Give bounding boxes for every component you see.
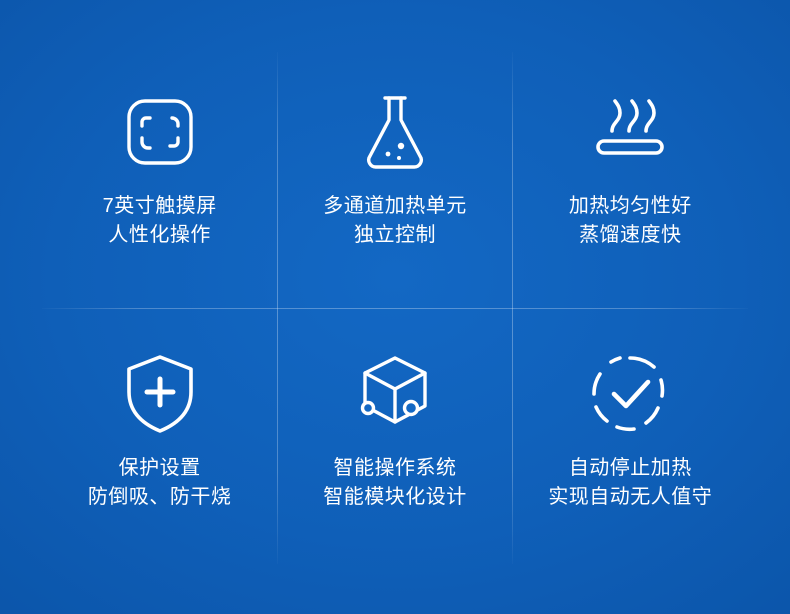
feature-label-line1: 智能操作系统 bbox=[323, 454, 467, 483]
feature-label-line2: 独立控制 bbox=[323, 221, 467, 250]
feature-cell-auto-stop: 自动停止加热 实现自动无人值守 bbox=[513, 308, 748, 564]
feature-label-line2: 智能模块化设计 bbox=[323, 483, 467, 512]
feature-label: 自动停止加热 实现自动无人值守 bbox=[548, 454, 712, 512]
feature-label-line2: 人性化操作 bbox=[103, 221, 217, 250]
feature-label-line1: 加热均匀性好 bbox=[569, 192, 692, 221]
feature-label: 保护设置 防倒吸、防干烧 bbox=[88, 454, 232, 512]
feature-cell-smart-os: 智能操作系统 智能模块化设计 bbox=[277, 308, 512, 564]
feature-label-line2: 蒸馏速度快 bbox=[569, 221, 692, 250]
feature-label-line1: 保护设置 bbox=[88, 454, 232, 483]
shield-plus-icon bbox=[114, 348, 206, 440]
feature-label-line1: 7英寸触摸屏 bbox=[103, 192, 217, 221]
feature-cell-protection: 保护设置 防倒吸、防干烧 bbox=[42, 308, 277, 564]
feature-label: 智能操作系统 智能模块化设计 bbox=[323, 454, 467, 512]
feature-label-line2: 防倒吸、防干烧 bbox=[88, 483, 232, 512]
feature-label-line1: 多通道加热单元 bbox=[323, 192, 467, 221]
feature-cell-touchscreen: 7英寸触摸屏 人性化操作 bbox=[42, 52, 277, 308]
feature-grid: 7英寸触摸屏 人性化操作 多通道加热单元 独立控制 bbox=[42, 52, 748, 564]
feature-cell-heating-unit: 多通道加热单元 独立控制 bbox=[277, 52, 512, 308]
feature-label-line1: 自动停止加热 bbox=[548, 454, 712, 483]
feature-label-line2: 实现自动无人值守 bbox=[548, 483, 712, 512]
cube-module-icon bbox=[349, 348, 441, 440]
feature-label: 7英寸触摸屏 人性化操作 bbox=[103, 192, 217, 250]
auto-check-icon bbox=[584, 348, 676, 440]
flask-icon bbox=[349, 86, 441, 178]
feature-label: 多通道加热单元 独立控制 bbox=[323, 192, 467, 250]
feature-cell-heat-uniformity: 加热均匀性好 蒸馏速度快 bbox=[513, 52, 748, 308]
heat-waves-icon bbox=[584, 86, 676, 178]
feature-label: 加热均匀性好 蒸馏速度快 bbox=[569, 192, 692, 250]
feature-poster: 7英寸触摸屏 人性化操作 多通道加热单元 独立控制 bbox=[0, 0, 790, 614]
touchscreen-icon bbox=[114, 86, 206, 178]
